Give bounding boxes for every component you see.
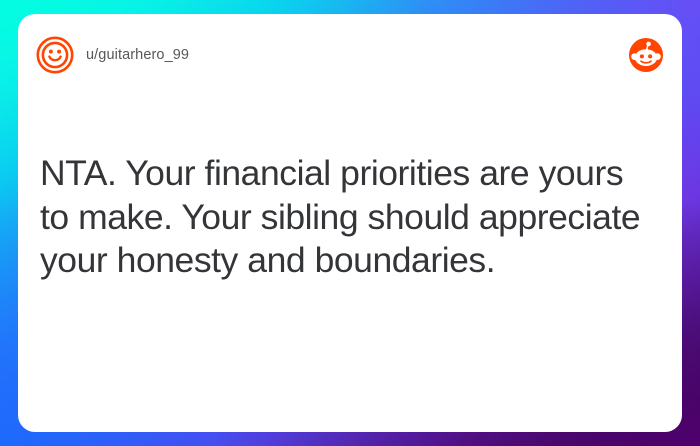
username-label: u/guitarhero_99 bbox=[86, 44, 189, 66]
post-text: NTA. Your financial priorities are yours… bbox=[40, 152, 644, 283]
screenshot-canvas: u/guitarhero_99 bbox=[0, 0, 700, 446]
post-header: u/guitarhero_99 bbox=[18, 14, 682, 100]
reddit-snoo-icon bbox=[629, 38, 663, 72]
post-body: NTA. Your financial priorities are yours… bbox=[40, 152, 644, 283]
smiley-face-icon bbox=[36, 36, 74, 74]
reddit-post-card: u/guitarhero_99 bbox=[18, 14, 682, 432]
